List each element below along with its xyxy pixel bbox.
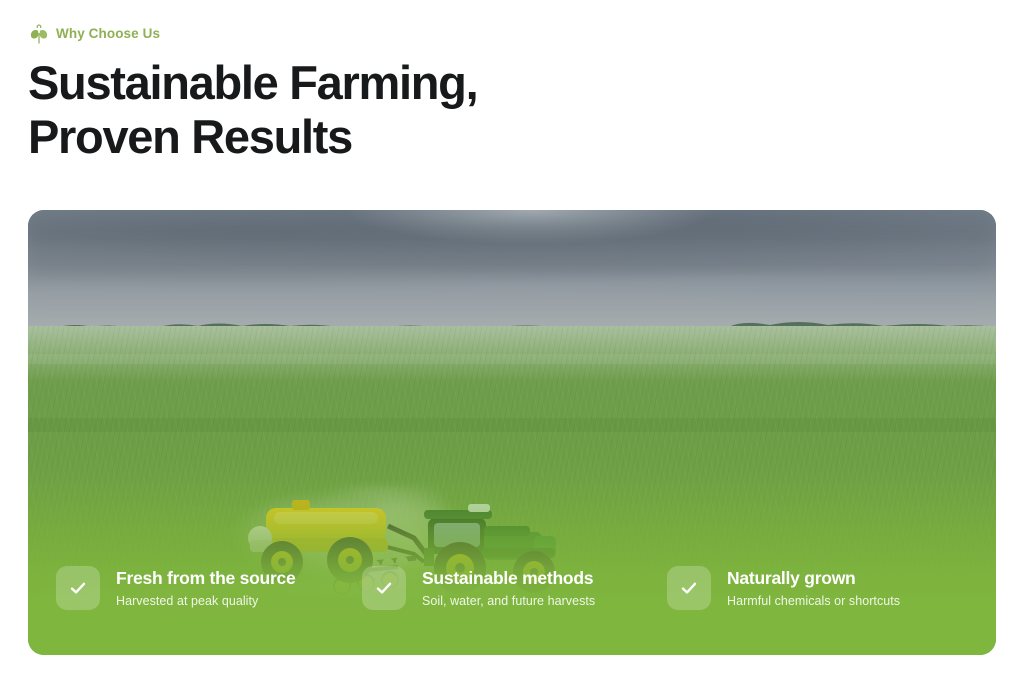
feature-text: Naturally grown Harmful chemicals or sho… (727, 567, 900, 609)
sprout-leaf-icon (29, 24, 49, 44)
page-title-line-1: Sustainable Farming, (28, 56, 728, 110)
eyebrow-label: Why Choose Us (56, 27, 160, 41)
check-icon (679, 578, 699, 598)
sky-background (28, 210, 996, 329)
feature-check-tile (362, 566, 406, 610)
feature-text: Fresh from the source Harvested at peak … (116, 567, 296, 609)
feature-item: Naturally grown Harmful chemicals or sho… (667, 566, 968, 610)
feature-list: Fresh from the source Harvested at peak … (28, 545, 996, 655)
feature-subtitle: Harvested at peak quality (116, 593, 296, 609)
feature-title: Fresh from the source (116, 567, 296, 589)
feature-title: Sustainable methods (422, 567, 595, 589)
cloud-streak (28, 256, 996, 274)
feature-subtitle: Soil, water, and future harvests (422, 593, 595, 609)
check-icon (68, 578, 88, 598)
hero-image-card: Fresh from the source Harvested at peak … (28, 210, 996, 655)
check-icon (374, 578, 394, 598)
feature-check-tile (667, 566, 711, 610)
cloud-streak (28, 220, 996, 246)
feature-item: Fresh from the source Harvested at peak … (56, 566, 362, 610)
feature-text: Sustainable methods Soil, water, and fut… (422, 567, 595, 609)
section-eyebrow: Why Choose Us (29, 23, 160, 45)
page-title: Sustainable Farming, Proven Results (28, 56, 728, 164)
cloud-streak (28, 284, 996, 298)
page-root: Why Choose Us Sustainable Farming, Prove… (0, 0, 1024, 685)
feature-title: Naturally grown (727, 567, 900, 589)
feature-item: Sustainable methods Soil, water, and fut… (362, 566, 667, 610)
feature-check-tile (56, 566, 100, 610)
page-title-line-2: Proven Results (28, 110, 728, 164)
feature-subtitle: Harmful chemicals or shortcuts (727, 593, 900, 609)
